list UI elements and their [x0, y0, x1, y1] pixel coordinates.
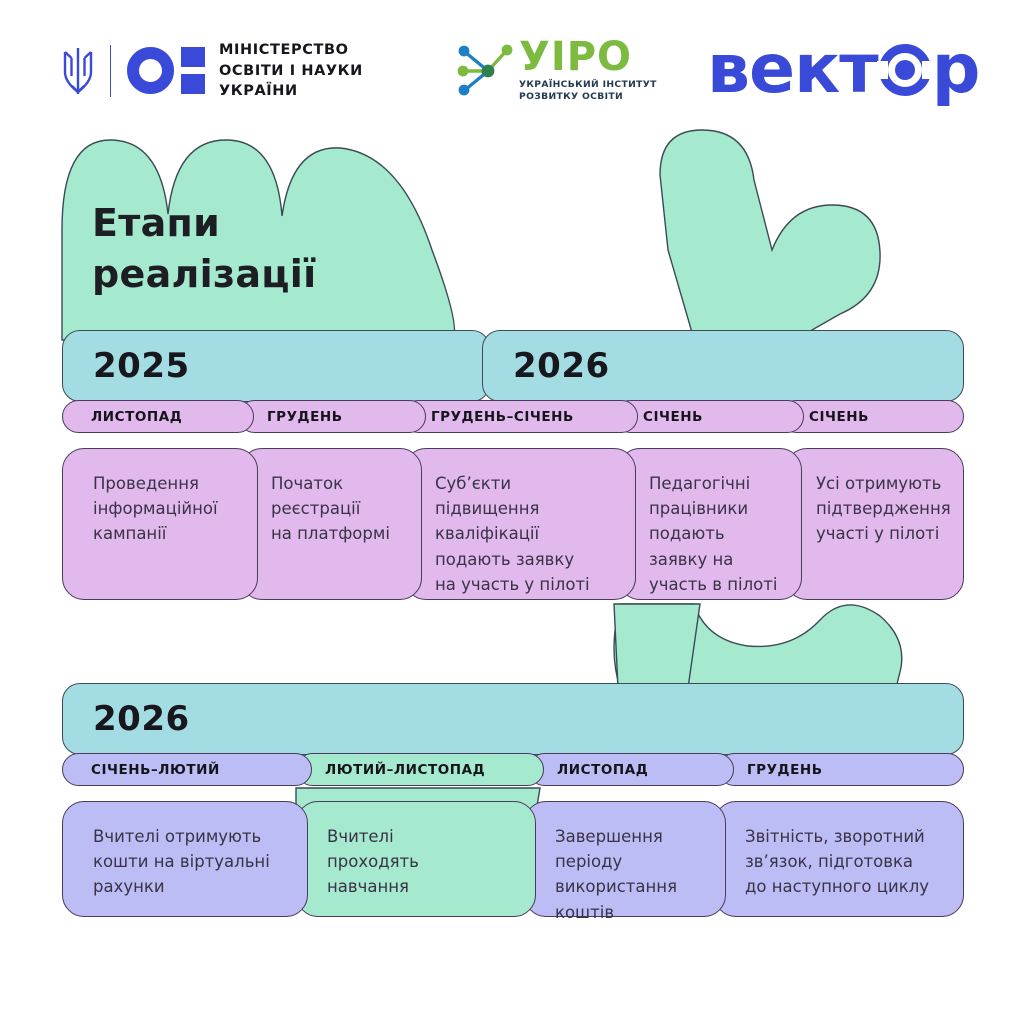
year-label: 2026 — [513, 346, 610, 386]
year-bar-2026-b: 2026 — [62, 683, 964, 755]
month-label: ЛИСТОПАД — [557, 762, 648, 778]
year-bar-row-2: 2026 — [0, 683, 1024, 755]
card-teachers-apply[interactable]: Педагогічні працівники подають заявку на… — [618, 448, 802, 600]
month-label: СІЧЕНЬ–ЛЮТИЙ — [91, 762, 220, 778]
month-pill-hruden[interactable]: ГРУДЕНЬ — [238, 400, 426, 433]
year-label: 2025 — [93, 346, 190, 386]
page-title: Етапи реалізації — [92, 198, 316, 301]
month-pill-lyutyi-lystopad[interactable]: ЛЮТИЙ–ЛИСТОПАД — [296, 753, 544, 786]
card-text: Усі отримують підтвердження участі у піл… — [816, 474, 951, 543]
card-text: Проведення інформаційної кампанії — [93, 474, 218, 543]
card-text: Суб’єкти підвищення кваліфікації подають… — [435, 474, 590, 594]
month-pill-sichen-1[interactable]: СІЧЕНЬ — [614, 400, 804, 433]
month-pill-row-2: ГРУДЕНЬ ЛИСТОПАД ЛЮТИЙ–ЛИСТОПАД СІЧЕНЬ–Л… — [0, 753, 1024, 786]
card-text: Звітність, зворотний зв’язок, підготовка… — [745, 827, 929, 896]
card-teachers-funds[interactable]: Вчителі отримують кошти на віртуальні ра… — [62, 801, 308, 917]
timeline-section-1: 2025 2026 СІЧЕНЬ СІЧЕНЬ ГРУДЕНЬ–СІЧЕНЬ Г… — [0, 330, 1024, 600]
month-pill-sichen-lyutyi[interactable]: СІЧЕНЬ–ЛЮТИЙ — [62, 753, 312, 786]
year-bar-2025: 2025 — [62, 330, 490, 402]
card-text: Початок реєстрації на платформі — [271, 474, 390, 543]
card-text: Вчителі проходять навчання — [327, 827, 419, 896]
month-label: СІЧЕНЬ — [643, 409, 703, 425]
month-label: ГРУДЕНЬ — [267, 409, 343, 425]
month-pill-lystopad-2[interactable]: ЛИСТОПАД — [528, 753, 734, 786]
year-bar-row-1: 2025 2026 — [0, 330, 1024, 402]
mint-blob-wedge — [614, 604, 700, 688]
card-row-1: Усі отримують підтвердження участі у піл… — [0, 448, 1024, 600]
card-period-end[interactable]: Завершення періоду використання коштів — [524, 801, 726, 917]
card-info-campaign[interactable]: Проведення інформаційної кампанії — [62, 448, 258, 600]
card-text: Педагогічні працівники подають заявку на… — [649, 474, 777, 594]
card-all-confirm[interactable]: Усі отримують підтвердження участі у піл… — [785, 448, 964, 600]
card-registration-start[interactable]: Початок реєстрації на платформі — [240, 448, 422, 600]
month-label: ГРУДЕНЬ–СІЧЕНЬ — [431, 409, 574, 425]
card-reporting-feedback[interactable]: Звітність, зворотний зв’язок, підготовка… — [714, 801, 964, 917]
month-pill-row-1: СІЧЕНЬ СІЧЕНЬ ГРУДЕНЬ–СІЧЕНЬ ГРУДЕНЬ ЛИС… — [0, 400, 1024, 433]
month-pill-lystopad[interactable]: ЛИСТОПАД — [62, 400, 254, 433]
month-label: ГРУДЕНЬ — [747, 762, 823, 778]
month-pill-hruden-2[interactable]: ГРУДЕНЬ — [718, 753, 964, 786]
month-label: ЛИСТОПАД — [91, 409, 182, 425]
year-bar-2026: 2026 — [482, 330, 964, 402]
month-pill-hruden-sichen[interactable]: ГРУДЕНЬ–СІЧЕНЬ — [402, 400, 638, 433]
year-label: 2026 — [93, 699, 190, 739]
month-label: ЛЮТИЙ–ЛИСТОПАД — [325, 762, 485, 778]
month-label: СІЧЕНЬ — [809, 409, 869, 425]
month-pill-sichen-2[interactable]: СІЧЕНЬ — [780, 400, 964, 433]
card-providers-apply[interactable]: Суб’єкти підвищення кваліфікації подають… — [404, 448, 636, 600]
card-text: Завершення періоду використання коштів — [555, 827, 677, 922]
card-teachers-training[interactable]: Вчителі проходять навчання — [296, 801, 536, 917]
card-text: Вчителі отримують кошти на віртуальні ра… — [93, 827, 270, 896]
card-row-2: Звітність, зворотний зв’язок, підготовка… — [0, 801, 1024, 917]
timeline-section-2: 2026 ГРУДЕНЬ ЛИСТОПАД ЛЮТИЙ–ЛИСТОПАД СІЧ… — [0, 683, 1024, 917]
